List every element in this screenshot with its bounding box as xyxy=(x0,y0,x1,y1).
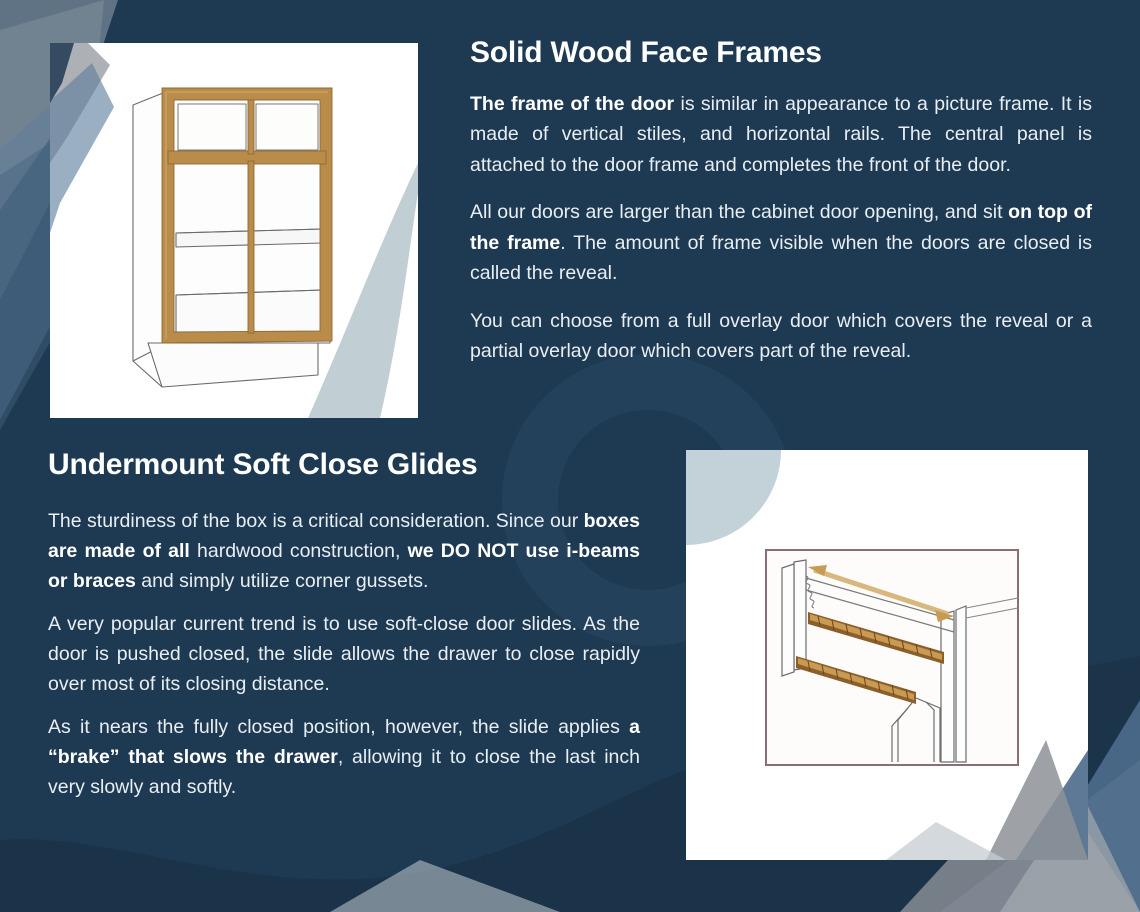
cabinet-illustration xyxy=(50,43,418,418)
cabinet-image-card xyxy=(50,43,418,418)
paragraph: The sturdiness of the box is a critical … xyxy=(48,506,640,596)
face-frames-paragraphs: The frame of the door is similar in appe… xyxy=(470,89,1092,367)
page-title-glides: Undermount Soft Close Glides xyxy=(48,448,640,482)
glide-illustration xyxy=(686,450,1088,860)
glides-paragraphs: The sturdiness of the box is a critical … xyxy=(48,506,640,802)
page-title-face-frames: Solid Wood Face Frames xyxy=(470,36,1092,70)
paragraph: You can choose from a full overlay door … xyxy=(470,306,1092,367)
face-frames-text-block: Solid Wood Face Frames The frame of the … xyxy=(470,36,1092,367)
emphasis-text: The frame of the door xyxy=(470,93,674,115)
slide-page: Solid Wood Face Frames The frame of the … xyxy=(0,0,1140,912)
paragraph: The frame of the door is similar in appe… xyxy=(470,89,1092,181)
paragraph: A very popular current trend is to use s… xyxy=(48,609,640,699)
paragraph: As it nears the fully closed position, h… xyxy=(48,712,640,802)
paragraph: All our doors are larger than the cabine… xyxy=(470,197,1092,289)
glides-image-card xyxy=(686,450,1088,860)
glides-text-block: Undermount Soft Close Glides The sturdin… xyxy=(48,448,640,815)
